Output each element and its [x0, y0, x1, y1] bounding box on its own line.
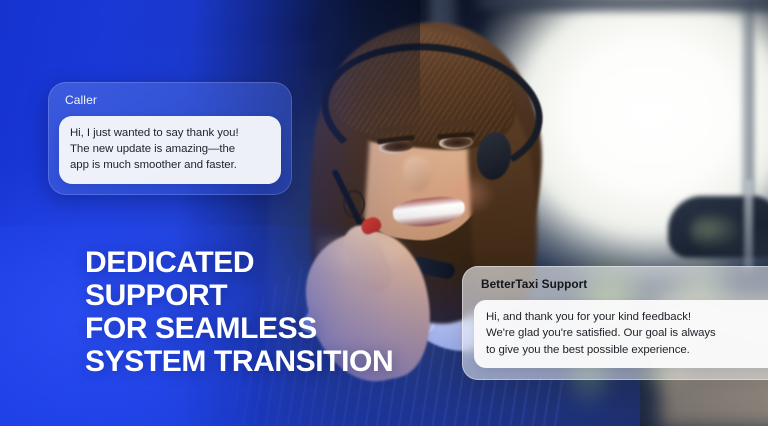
headline-line-2: SUPPORT [85, 279, 393, 312]
chat-card-support[interactable]: BetterTaxi Support Hi, and thank you for… [462, 266, 768, 380]
hero-headline: DEDICATED SUPPORT FOR SEAMLESS SYSTEM TR… [85, 246, 393, 378]
chat-card-caller[interactable]: Caller Hi, I just wanted to say thank yo… [48, 82, 292, 195]
chat-line: The new update is amazing—the [70, 141, 270, 157]
chat-speaker-label-caller: Caller [59, 92, 281, 116]
chat-line: Hi, I just wanted to say thank you! [70, 125, 270, 141]
chat-line: Hi, and thank you for your kind feedback… [486, 309, 768, 325]
chat-speaker-label-support: BetterTaxi Support [474, 276, 768, 300]
chat-line: app is much smoother and faster. [70, 157, 270, 173]
chat-line: to give you the best possible experience… [486, 342, 768, 358]
chat-line: We're glad you're satisfied. Our goal is… [486, 325, 768, 341]
headline-line-3: FOR SEAMLESS [85, 312, 393, 345]
headline-line-1: DEDICATED [85, 246, 393, 279]
chat-bubble-support: Hi, and thank you for your kind feedback… [474, 300, 768, 368]
chat-bubble-caller: Hi, I just wanted to say thank you! The … [59, 116, 281, 184]
hero-banner: Caller Hi, I just wanted to say thank yo… [0, 0, 768, 426]
headline-line-4: SYSTEM TRANSITION [85, 345, 393, 378]
